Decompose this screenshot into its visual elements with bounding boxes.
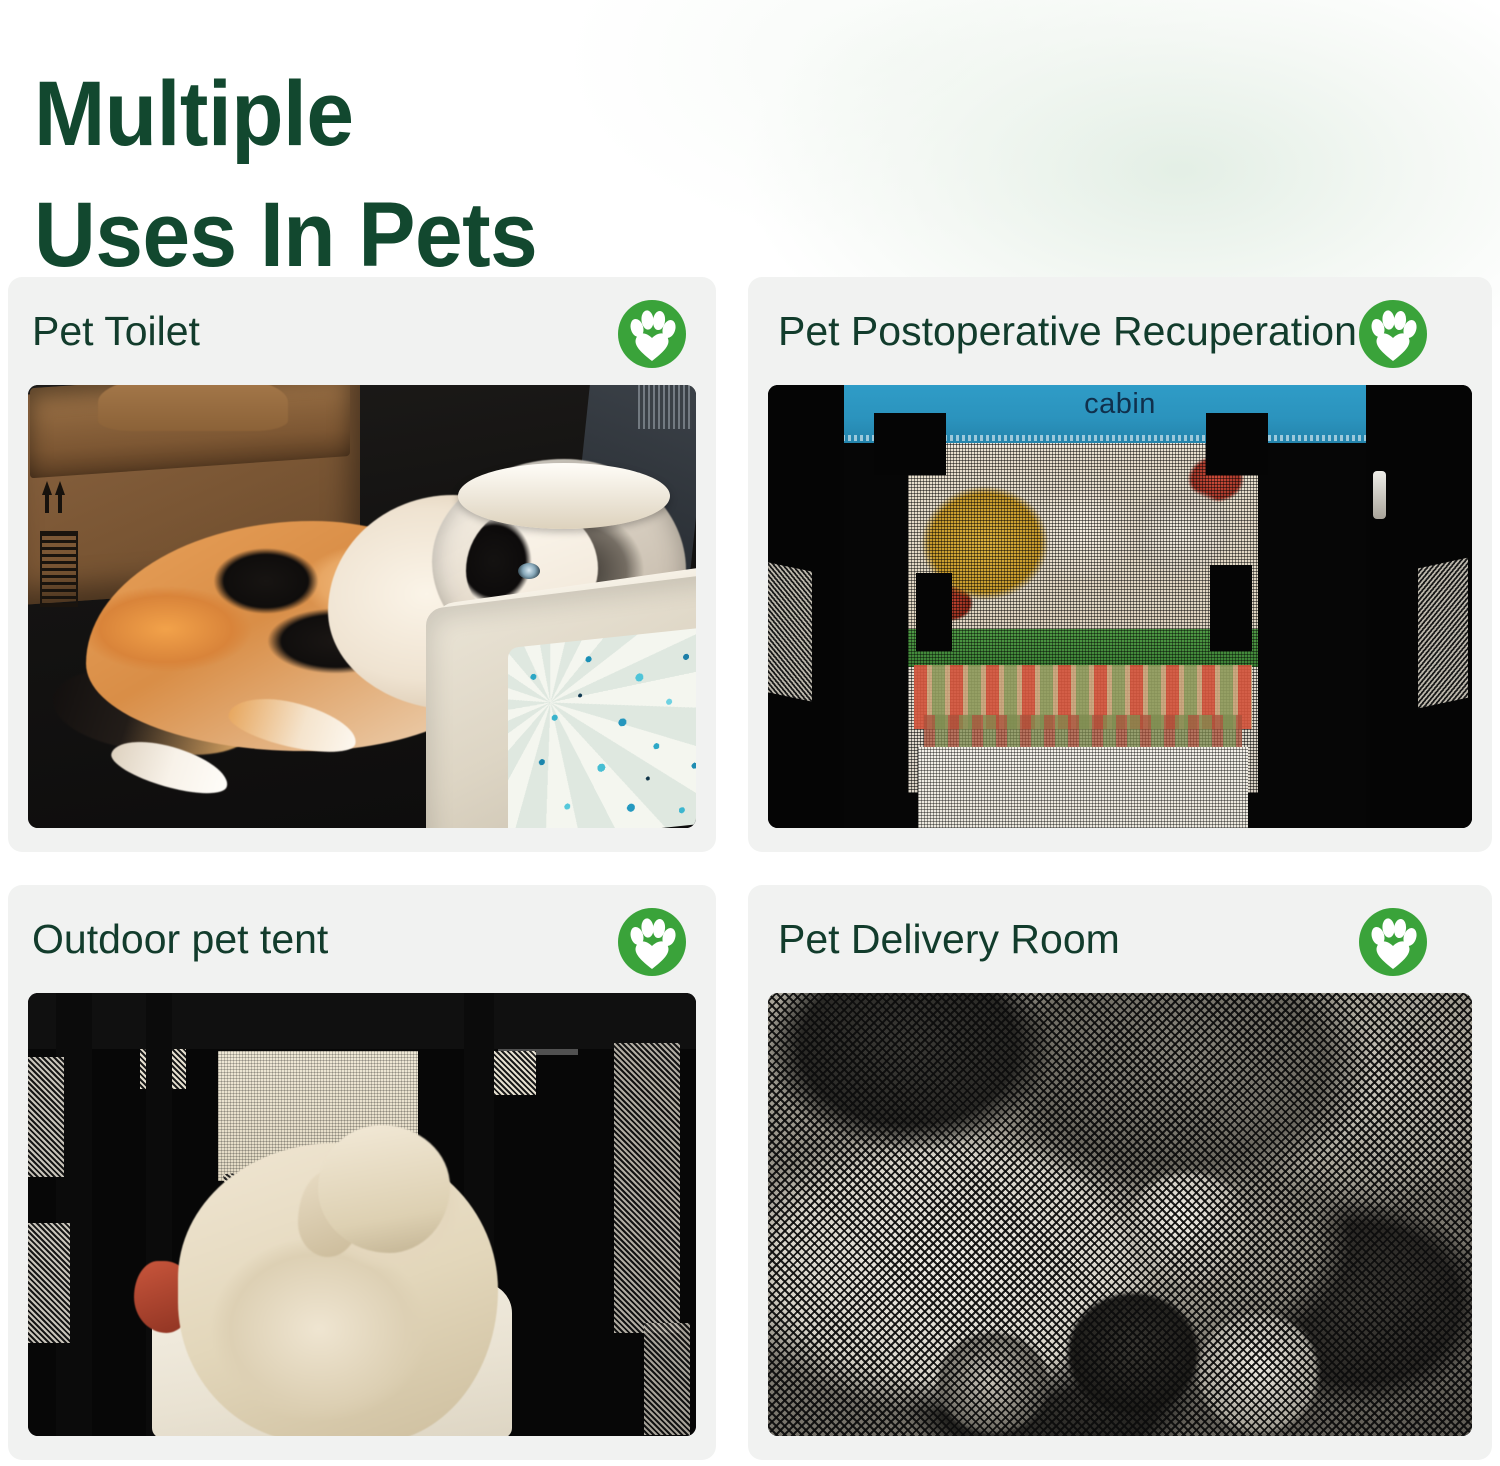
card-header: Outdoor pet tent bbox=[8, 885, 716, 993]
card-photo bbox=[28, 385, 696, 828]
use-case-card-pet-delivery-room: Pet Delivery Room bbox=[748, 885, 1492, 1460]
use-case-card-outdoor-pet-tent: Outdoor pet tent bbox=[8, 885, 716, 1460]
card-photo bbox=[768, 993, 1472, 1436]
card-title: Pet Postoperative Recuperation bbox=[778, 311, 1357, 352]
page-title: Multiple Uses In Pets bbox=[34, 54, 741, 297]
card-photo: cabin bbox=[768, 385, 1472, 828]
card-header: Pet Toilet bbox=[8, 277, 716, 385]
use-case-card-pet-postoperative-recuperation: Pet Postoperative Recuperation cabin bbox=[748, 277, 1492, 852]
use-case-card-pet-toilet: Pet Toilet bbox=[8, 277, 716, 852]
card-title: Pet Toilet bbox=[32, 311, 200, 352]
paw-icon bbox=[617, 907, 687, 977]
card-title: Pet Delivery Room bbox=[778, 919, 1120, 960]
card-photo bbox=[28, 993, 696, 1436]
card-title: Outdoor pet tent bbox=[32, 919, 328, 960]
paw-icon bbox=[1358, 907, 1428, 977]
paw-icon bbox=[1358, 299, 1428, 369]
paw-icon bbox=[617, 299, 687, 369]
